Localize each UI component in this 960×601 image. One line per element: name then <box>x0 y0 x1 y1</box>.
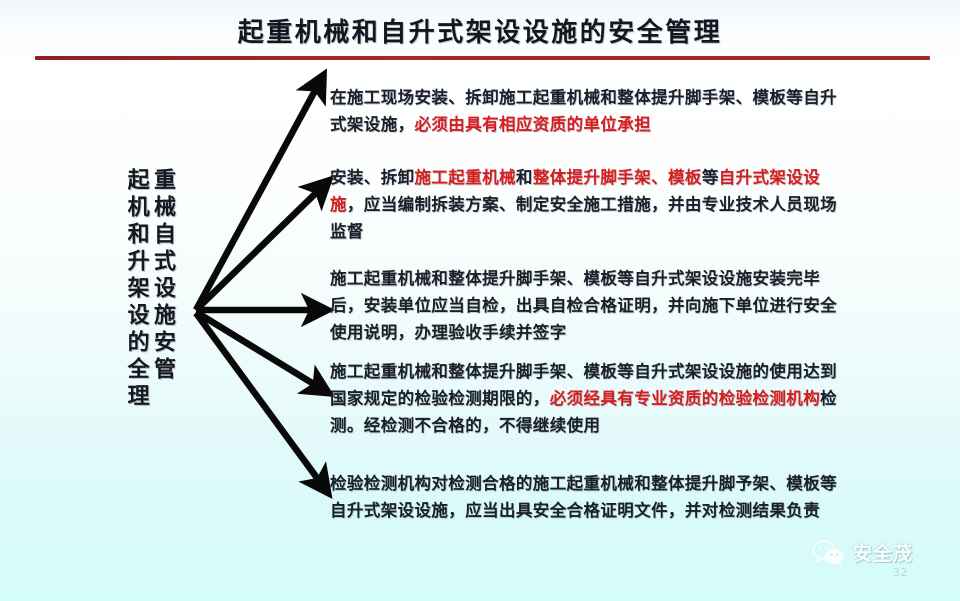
wechat-icon <box>812 540 846 566</box>
page-number: 32 <box>893 566 908 579</box>
watermark: 安全茂 <box>812 539 913 566</box>
text-run-highlight: 施工起重机械 <box>415 168 516 187</box>
text-run-normal: ，应当编制拆装方案、制定安全施工措施，并由专业技术人员现场监督 <box>330 195 837 241</box>
arrow-to-block-5 <box>196 313 320 482</box>
text-run-highlight: 整体提升脚手架、模板 <box>533 168 702 187</box>
slide-canvas: 起重机械和自升式架设设施的安全管理 重械自式设施安管 起机和升架设的全理 在施工… <box>0 0 960 601</box>
text-block-3: 施工起重机械和整体提升脚手架、模板等自升式架设设施安装完毕后，安装单位应当自检，… <box>330 265 846 346</box>
text-run-normal: 安装、拆卸 <box>330 168 415 187</box>
text-run-normal: 施工起重机械和整体提升脚手架、模板等自升式架设设施安装完毕后，安装单位应当自检，… <box>330 269 837 342</box>
text-run-normal: 等 <box>702 168 719 187</box>
text-block-1: 在施工现场安装、拆卸施工起重机械和整体提升脚手架、模板等自升式架设施，必须由具有… <box>330 84 846 138</box>
text-run-normal: 和 <box>516 168 533 187</box>
text-block-4: 施工起重机械和整体提升脚手架、模板等自升式架设设施的使用达到国家规定的检验检测期… <box>330 358 846 439</box>
text-run-normal: 检验检测机构对检测合格的施工起重机械和整体提升脚予架、模板等自升式架设设施，应当… <box>330 474 837 520</box>
watermark-text: 安全茂 <box>853 539 913 566</box>
arrow-to-block-1 <box>196 87 317 310</box>
arrow-to-block-4 <box>196 312 317 386</box>
text-block-2: 安装、拆卸施工起重机械和整体提升脚手架、模板等自升式架设设施，应当编制拆装方案、… <box>330 164 846 245</box>
arrow-to-block-2 <box>196 190 319 310</box>
text-run-highlight: 必须由具有相应资质的单位承担 <box>415 115 652 134</box>
text-run-highlight: 必须经具有专业资质的检验检测机构 <box>550 389 820 408</box>
text-block-5: 检验检测机构对检测合格的施工起重机械和整体提升脚予架、模板等自升式架设设施，应当… <box>330 470 846 524</box>
